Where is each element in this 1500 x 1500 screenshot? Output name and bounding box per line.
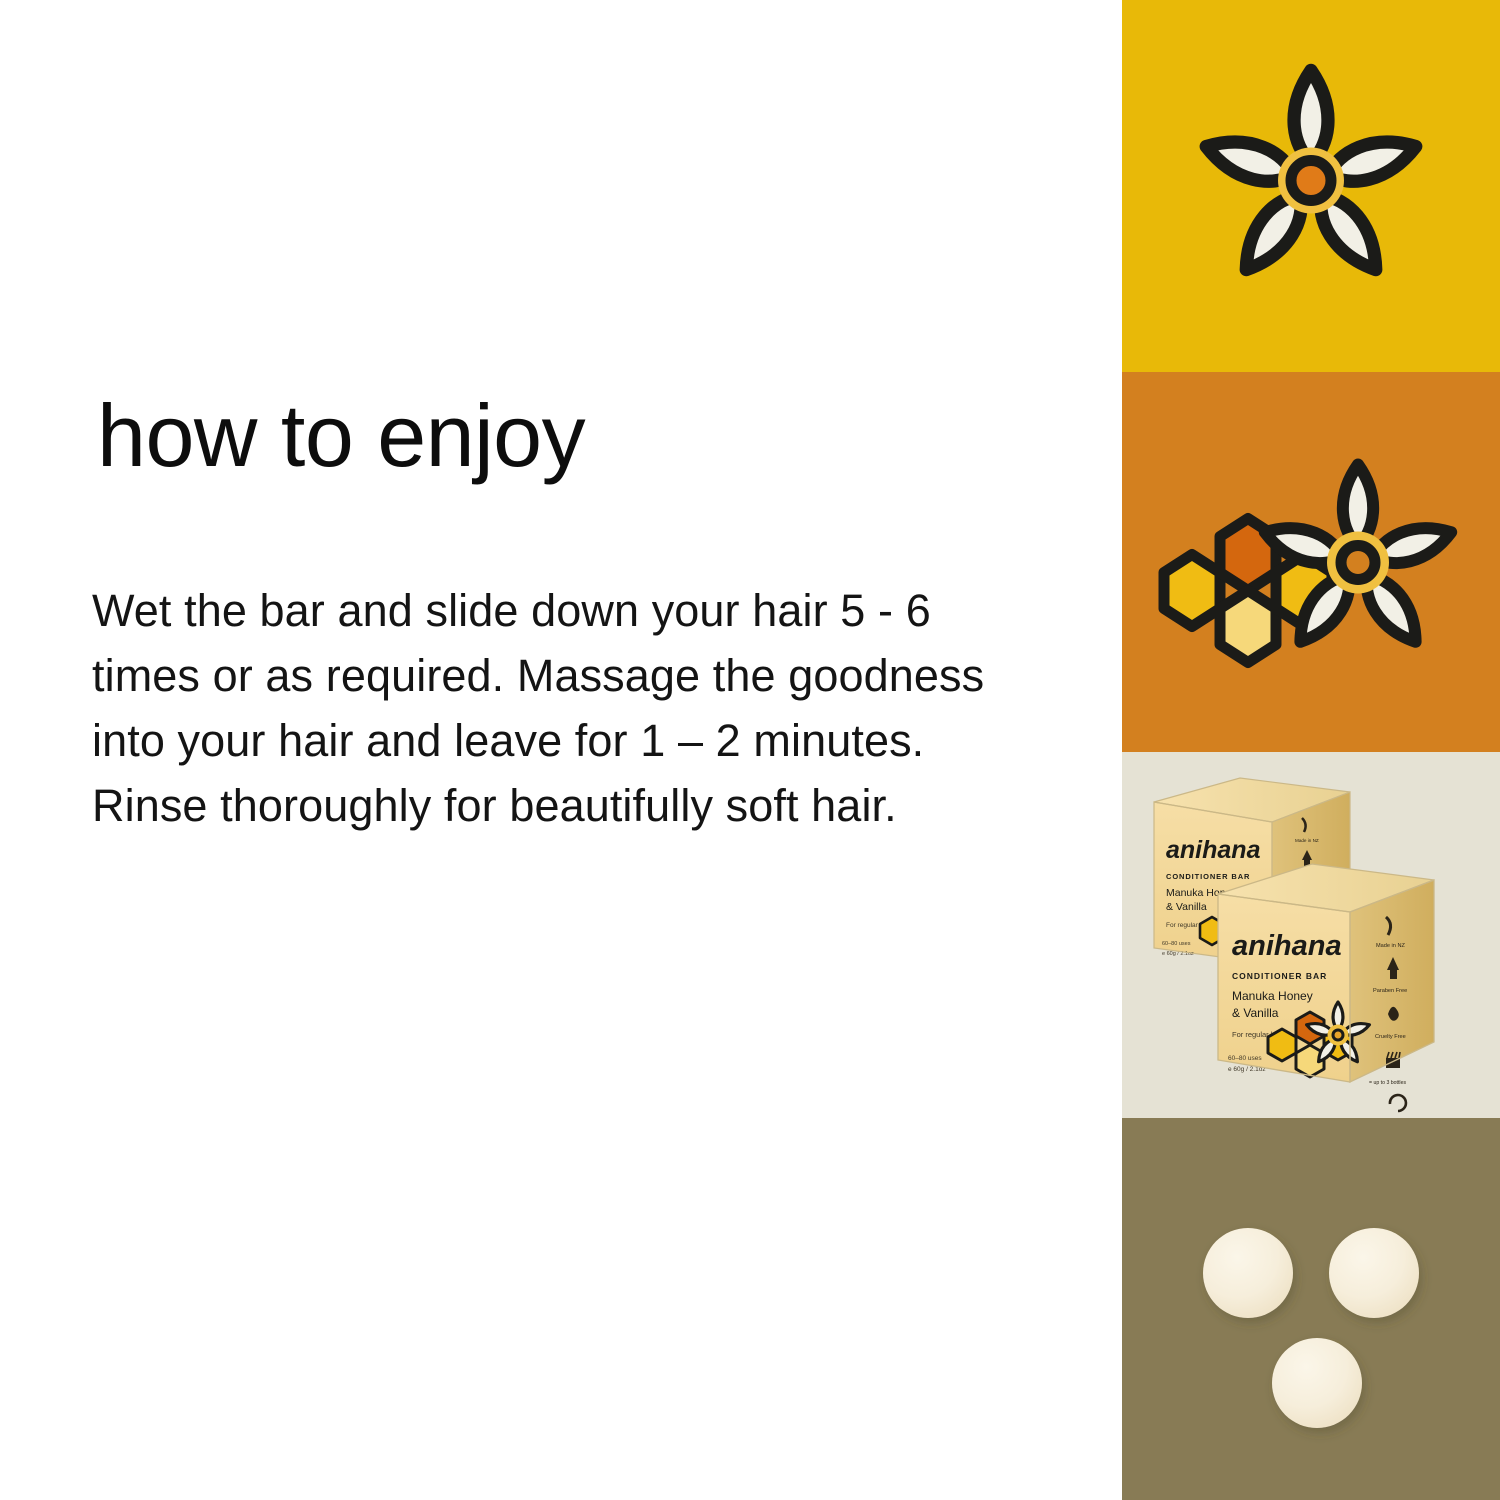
svg-text:= up to 3 bottles: = up to 3 bottles — [1369, 1080, 1406, 1086]
image-strip: anihana CONDITIONER BAR Manuka Honey & V… — [1122, 0, 1500, 1500]
svg-text:Paraben Free: Paraben Free — [1373, 988, 1407, 994]
uses-back: 60–80 uses — [1162, 941, 1191, 947]
product-boxes-panel: anihana CONDITIONER BAR Manuka Honey & V… — [1122, 752, 1500, 1118]
conditioner-bar-bottom — [1272, 1338, 1362, 1428]
category-back: CONDITIONER BAR — [1166, 872, 1250, 881]
uses-front: 60–80 uses — [1228, 1055, 1262, 1062]
text-column: how to enjoy Wet the bar and slide down … — [0, 0, 1122, 1500]
weight-back: e 60g / 2.1oz — [1162, 951, 1194, 957]
honeycomb-flower-panel — [1122, 372, 1500, 752]
page-title: how to enjoy — [97, 390, 585, 482]
variant-back-2: & Vanilla — [1166, 901, 1207, 913]
svg-text:Made in NZ: Made in NZ — [1376, 943, 1405, 949]
instructions-paragraph: Wet the bar and slide down your hair 5 -… — [92, 578, 1022, 838]
conditioner-bars-panel — [1122, 1118, 1500, 1500]
product-instruction-graphic: how to enjoy Wet the bar and slide down … — [0, 0, 1500, 1500]
conditioner-bar-boxes: anihana CONDITIONER BAR Manuka Honey & V… — [1122, 752, 1500, 1118]
variant-front-2: & Vanilla — [1232, 1006, 1279, 1020]
honeycomb-vanilla-flower-icon — [1146, 452, 1476, 687]
conditioner-bar-right — [1329, 1228, 1419, 1318]
three-conditioner-bars — [1122, 1118, 1500, 1500]
svg-text:Made in NZ: Made in NZ — [1295, 838, 1319, 843]
vanilla-flower-icon — [1181, 59, 1441, 314]
svg-text:Cruelty Free: Cruelty Free — [1375, 1034, 1406, 1040]
vanilla-flower-panel — [1122, 0, 1500, 372]
box-front: anihana CONDITIONER BAR Manuka Honey & V… — [1218, 864, 1434, 1118]
category-front: CONDITIONER BAR — [1232, 971, 1327, 981]
brand-name-back: anihana — [1166, 836, 1261, 864]
conditioner-bar-left — [1203, 1228, 1293, 1318]
brand-name-front: anihana — [1232, 930, 1342, 962]
variant-front-1: Manuka Honey — [1232, 989, 1313, 1003]
